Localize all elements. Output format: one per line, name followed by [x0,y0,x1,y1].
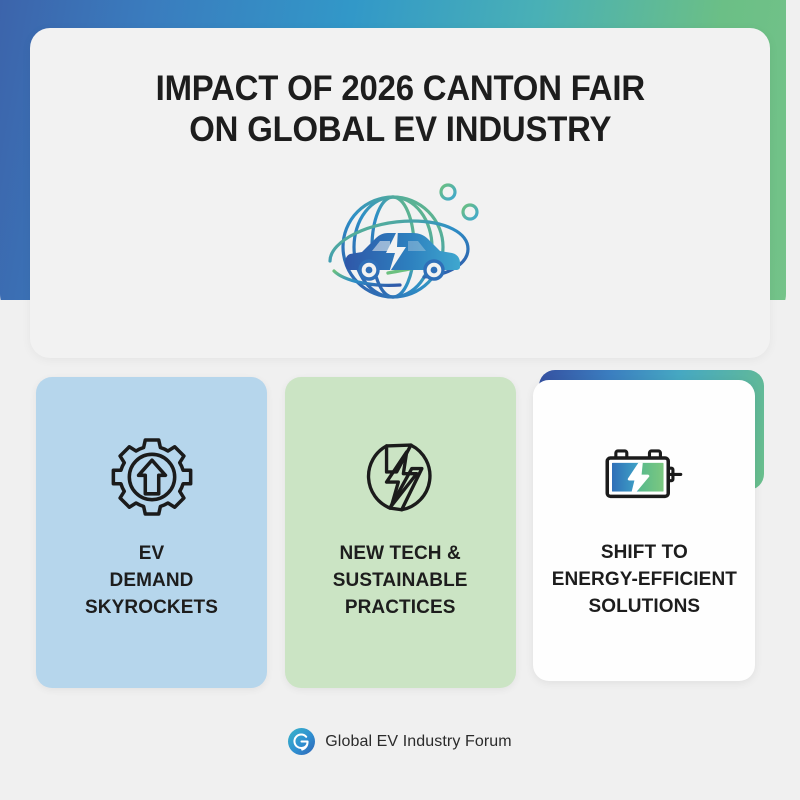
header-card: IMPACT OF 2026 CANTON FAIR ON GLOBAL EV … [30,28,770,358]
feature-card-label-2: NEW TECH & SUSTAINABLE PRACTICES [325,541,476,622]
feature-card-slot-3: SHIFT TO ENERGY-EFFICIENT SOLUTIONS [533,370,764,688]
card-1-line-2: DEMAND [85,568,218,595]
gear-up-arrow-icon [110,429,194,525]
feature-card-label-1: EV DEMAND SKYROCKETS [77,541,226,622]
feature-card-new-tech[interactable]: NEW TECH & SUSTAINABLE PRACTICES [285,377,516,688]
globe-forum-logo [288,728,315,755]
footer-brand-text: Global EV Industry Forum [325,733,511,751]
card-1-line-3: SKYROCKETS [85,595,218,622]
page-title-line-1: IMPACT OF 2026 CANTON FAIR [155,68,644,109]
card-1-line-1: EV [85,541,218,568]
lightning-bolt-circle-icon [358,429,442,525]
feature-card-slot-2: NEW TECH & SUSTAINABLE PRACTICES [285,370,516,688]
card-3-line-1: SHIFT TO [552,540,737,567]
globe-ev-car-icon [300,169,500,324]
battery-bolt-icon [601,428,687,524]
page-title-line-2: ON GLOBAL EV INDUSTRY [155,109,644,150]
feature-card-energy-efficient[interactable]: SHIFT TO ENERGY-EFFICIENT SOLUTIONS [533,380,755,681]
feature-card-slot-1: EV DEMAND SKYROCKETS [36,370,267,688]
infographic-poster: IMPACT OF 2026 CANTON FAIR ON GLOBAL EV … [0,0,800,800]
feature-card-ev-demand[interactable]: EV DEMAND SKYROCKETS [36,377,267,688]
card-3-line-2: ENERGY-EFFICIENT [552,567,737,594]
card-2-line-2: SUSTAINABLE [333,568,468,595]
page-title: IMPACT OF 2026 CANTON FAIR ON GLOBAL EV … [155,68,644,151]
card-2-line-3: PRACTICES [333,595,468,622]
feature-card-label-3: SHIFT TO ENERGY-EFFICIENT SOLUTIONS [544,540,745,621]
feature-cards-row: EV DEMAND SKYROCKETS [36,370,764,688]
footer-brand: Global EV Industry Forum [0,728,800,755]
card-3-line-3: SOLUTIONS [552,594,737,621]
card-2-line-1: NEW TECH & [333,541,468,568]
